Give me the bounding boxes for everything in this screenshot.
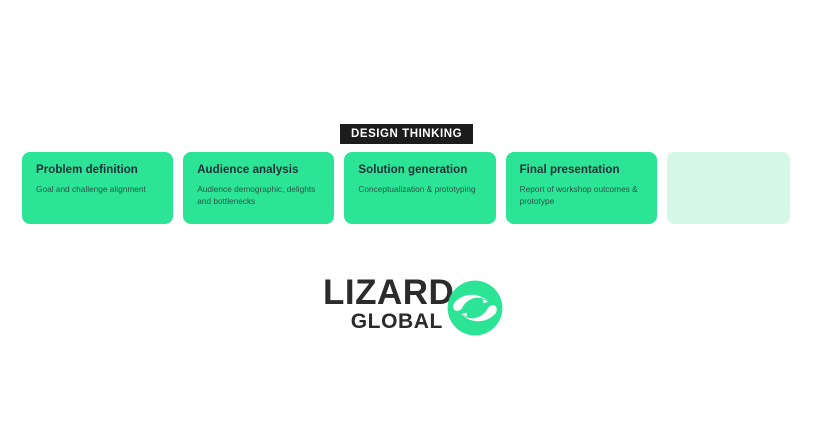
process-card[interactable]: Problem definition Goal and challenge al… [22, 152, 173, 224]
presentation-slide: DESIGN THINKING Problem definition Goal … [0, 0, 826, 430]
lizard-circle-icon [447, 280, 503, 336]
process-card-title: Solution generation [358, 164, 481, 177]
logo-text-global: GLOBAL [323, 311, 443, 333]
process-card-description: Report of workshop outcomes & prototype [520, 184, 643, 207]
process-card-description: Conceptualization & prototyping [358, 184, 481, 196]
process-card-description: Audience demographic, delights and bottl… [197, 184, 320, 207]
process-card[interactable]: Audience analysis Audience demographic, … [183, 152, 334, 224]
process-card[interactable]: Final presentation Report of workshop ou… [506, 152, 657, 224]
lizard-global-logo: LIZARD GLOBAL [323, 276, 503, 338]
process-card-placeholder[interactable] [667, 152, 790, 224]
process-card-title: Audience analysis [197, 164, 320, 177]
process-card-strip: Problem definition Goal and challenge al… [22, 152, 790, 224]
process-card-description: Goal and challenge alignment [36, 184, 159, 196]
process-card-title: Final presentation [520, 164, 643, 177]
logo-wordmark: LIZARD GLOBAL [323, 276, 443, 333]
logo-text-lizard: LIZARD [323, 276, 443, 310]
process-card[interactable]: Solution generation Conceptualization & … [344, 152, 495, 224]
process-card-title: Problem definition [36, 164, 159, 177]
design-thinking-badge: DESIGN THINKING [340, 124, 473, 144]
